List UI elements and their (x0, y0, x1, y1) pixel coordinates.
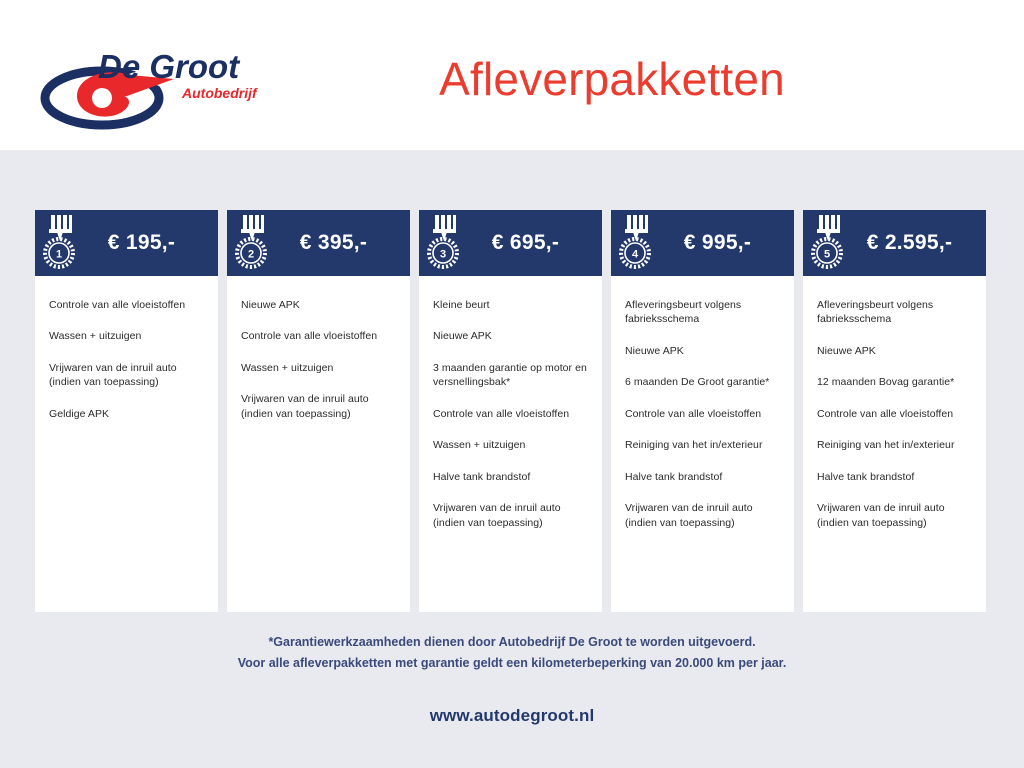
footnote-line-1: *Garantiewerkzaamheden dienen door Autob… (0, 632, 1024, 653)
package-feature-list: Kleine beurtNieuwe APK3 maanden garantie… (419, 276, 602, 612)
site-url[interactable]: www.autodegroot.nl (0, 706, 1024, 726)
package-feature-item: Wassen + uitzuigen (241, 361, 396, 375)
package-cards-container: 1 € 195,-Controle van alle vloeistoffenW… (35, 210, 990, 612)
package-feature-item: Controle van alle vloeistoffen (817, 407, 972, 421)
package-feature-list: Nieuwe APKControle van alle vloeistoffen… (227, 276, 410, 612)
package-feature-item: Controle van alle vloeistoffen (625, 407, 780, 421)
medal-icon: 5 (811, 215, 845, 273)
package-feature-item: Controle van alle vloeistoffen (49, 298, 204, 312)
package-feature-item: Geldige APK (49, 407, 204, 421)
package-card-4[interactable]: 4 € 995,-Afleveringsbeurt volgens fabrie… (611, 210, 794, 612)
footnote-line-2: Voor alle afleverpakketten met garantie … (0, 653, 1024, 674)
package-feature-item: Nieuwe APK (625, 344, 780, 358)
package-feature-item: Vrijwaren van de inruil auto (indien van… (625, 501, 780, 530)
package-feature-item: Afleveringsbeurt volgens fabrieksschema (625, 298, 780, 327)
page-title: Afleverpakketten (0, 52, 1024, 106)
package-feature-item: Vrijwaren van de inruil auto (indien van… (817, 501, 972, 530)
package-feature-item: Reiniging van het in/exterieur (625, 438, 780, 452)
medal-icon: 1 (43, 215, 77, 273)
package-feature-list: Afleveringsbeurt volgens fabrieksschemaN… (803, 276, 986, 612)
package-feature-item: Kleine beurt (433, 298, 588, 312)
svg-text:3: 3 (440, 249, 446, 261)
package-card-3[interactable]: 3 € 695,-Kleine beurtNieuwe APK3 maanden… (419, 210, 602, 612)
package-price: € 395,- (269, 231, 404, 255)
package-price: € 2.595,- (845, 231, 980, 255)
package-feature-item: Nieuwe APK (433, 329, 588, 343)
package-card-header: 2 € 395,- (227, 210, 410, 276)
medal-icon: 3 (427, 215, 461, 273)
package-feature-list: Controle van alle vloeistoffenWassen + u… (35, 276, 218, 612)
package-feature-item: Nieuwe APK (817, 344, 972, 358)
svg-text:2: 2 (248, 249, 254, 261)
package-feature-item: Halve tank brandstof (625, 470, 780, 484)
package-card-header: 3 € 695,- (419, 210, 602, 276)
package-card-1[interactable]: 1 € 195,-Controle van alle vloeistoffenW… (35, 210, 218, 612)
package-price: € 695,- (461, 231, 596, 255)
package-feature-item: Reiniging van het in/exterieur (817, 438, 972, 452)
footnote: *Garantiewerkzaamheden dienen door Autob… (0, 632, 1024, 673)
package-card-header: 1 € 195,- (35, 210, 218, 276)
package-feature-item: Halve tank brandstof (433, 470, 588, 484)
package-feature-item: Vrijwaren van de inruil auto (indien van… (49, 361, 204, 390)
package-feature-item: Wassen + uitzuigen (433, 438, 588, 452)
package-feature-item: Controle van alle vloeistoffen (241, 329, 396, 343)
package-feature-item: Halve tank brandstof (817, 470, 972, 484)
package-card-header: 4 € 995,- (611, 210, 794, 276)
package-feature-item: Nieuwe APK (241, 298, 396, 312)
package-feature-list: Afleveringsbeurt volgens fabrieksschemaN… (611, 276, 794, 612)
package-card-5[interactable]: 5 € 2.595,-Afleveringsbeurt volgens fabr… (803, 210, 986, 612)
package-price: € 995,- (653, 231, 788, 255)
svg-text:1: 1 (56, 249, 62, 261)
package-feature-item: 3 maanden garantie op motor en versnelli… (433, 361, 588, 390)
package-feature-item: 6 maanden De Groot garantie* (625, 375, 780, 389)
package-card-header: 5 € 2.595,- (803, 210, 986, 276)
header-band: De Groot Autobedrijf Afleverpakketten (0, 0, 1024, 150)
package-feature-item: Vrijwaren van de inruil auto (indien van… (241, 392, 396, 421)
medal-icon: 2 (235, 215, 269, 273)
package-feature-item: Controle van alle vloeistoffen (433, 407, 588, 421)
package-card-2[interactable]: 2 € 395,-Nieuwe APKControle van alle vlo… (227, 210, 410, 612)
package-price: € 195,- (77, 231, 212, 255)
package-feature-item: Vrijwaren van de inruil auto (indien van… (433, 501, 588, 530)
package-feature-item: Afleveringsbeurt volgens fabrieksschema (817, 298, 972, 327)
svg-text:5: 5 (824, 249, 830, 261)
svg-text:4: 4 (632, 249, 639, 261)
package-feature-item: Wassen + uitzuigen (49, 329, 204, 343)
package-feature-item: 12 maanden Bovag garantie* (817, 375, 972, 389)
medal-icon: 4 (619, 215, 653, 273)
